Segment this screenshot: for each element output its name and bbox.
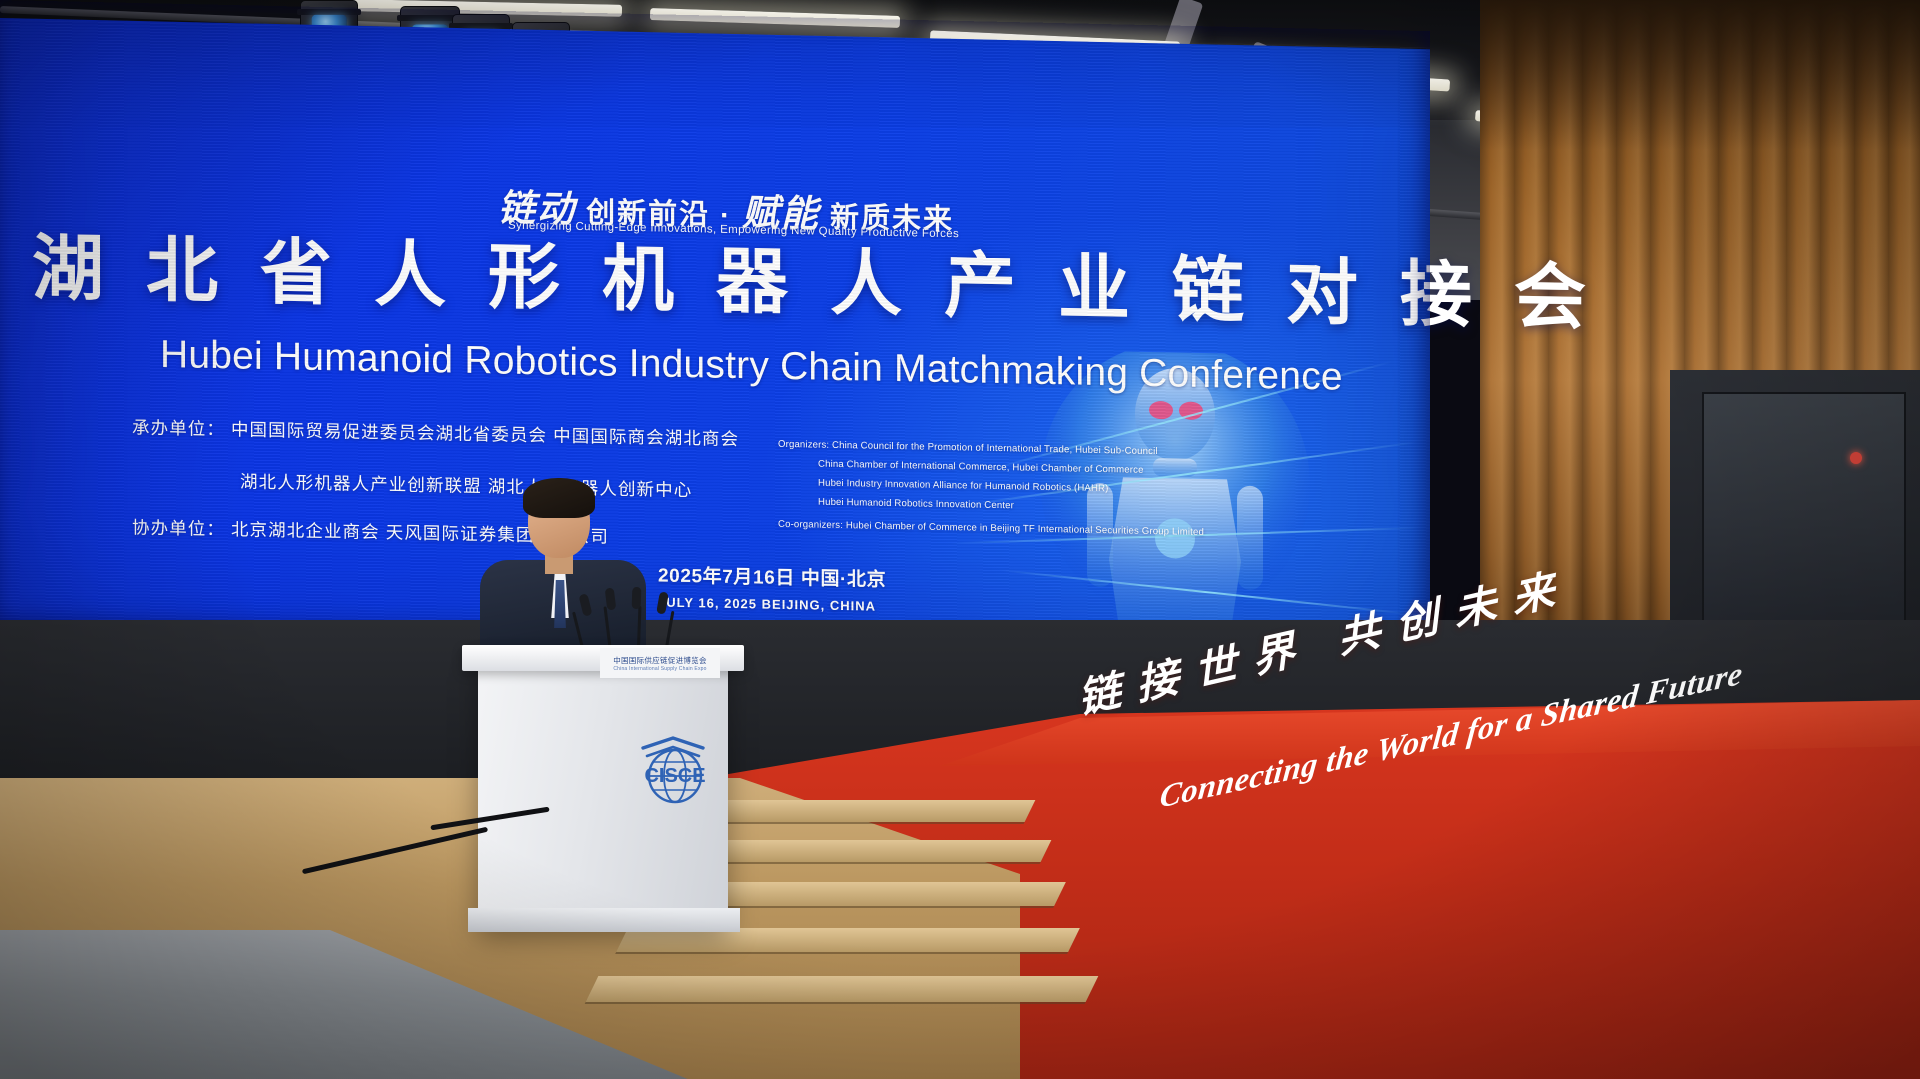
led-backdrop-screen: 链动 创新前沿 · 赋能 新质未来 Synergizing Cutting-Ed… — [0, 18, 1430, 669]
conference-photo-scene: 链动 创新前沿 · 赋能 新质未来 Synergizing Cutting-Ed… — [0, 0, 1920, 1079]
podium-plate-cn: 中国国际供应链促进博览会 — [613, 655, 707, 666]
stage-step — [586, 976, 1099, 1002]
screen-title-en: Hubei Humanoid Robotics Industry Chain M… — [160, 335, 1343, 397]
podium-nameplate: 中国国际供应链促进博览会 China International Supply … — [600, 648, 720, 678]
stage-step — [695, 800, 1036, 822]
screen-organizer-cn-line: 湖北人形机器人产业创新联盟 湖北人形机器人创新中心 — [240, 468, 692, 502]
curtain-top-shadow — [1480, 0, 1920, 150]
exit-indicator-icon — [1850, 452, 1862, 464]
screen-title-cn: 湖 北 省 人 形 机 器 人 产 业 链 对 接 会 — [32, 232, 1597, 334]
cisce-logo-text: CISCE — [644, 765, 705, 787]
podium-plate-en: China International Supply Chain Expo — [613, 666, 706, 672]
screen-organizer-cn-line: 承办单位： 中国国际贸易促进委员会湖北省委员会 中国国际商会湖北商会 — [132, 414, 739, 451]
podium-base — [468, 908, 740, 932]
speaker-hair — [523, 478, 595, 518]
cisce-logo: CISCE — [627, 722, 723, 818]
screen-organizer-en-line: Hubei Humanoid Robotics Innovation Cente… — [818, 495, 1014, 515]
right-wall-panel — [1702, 392, 1906, 646]
